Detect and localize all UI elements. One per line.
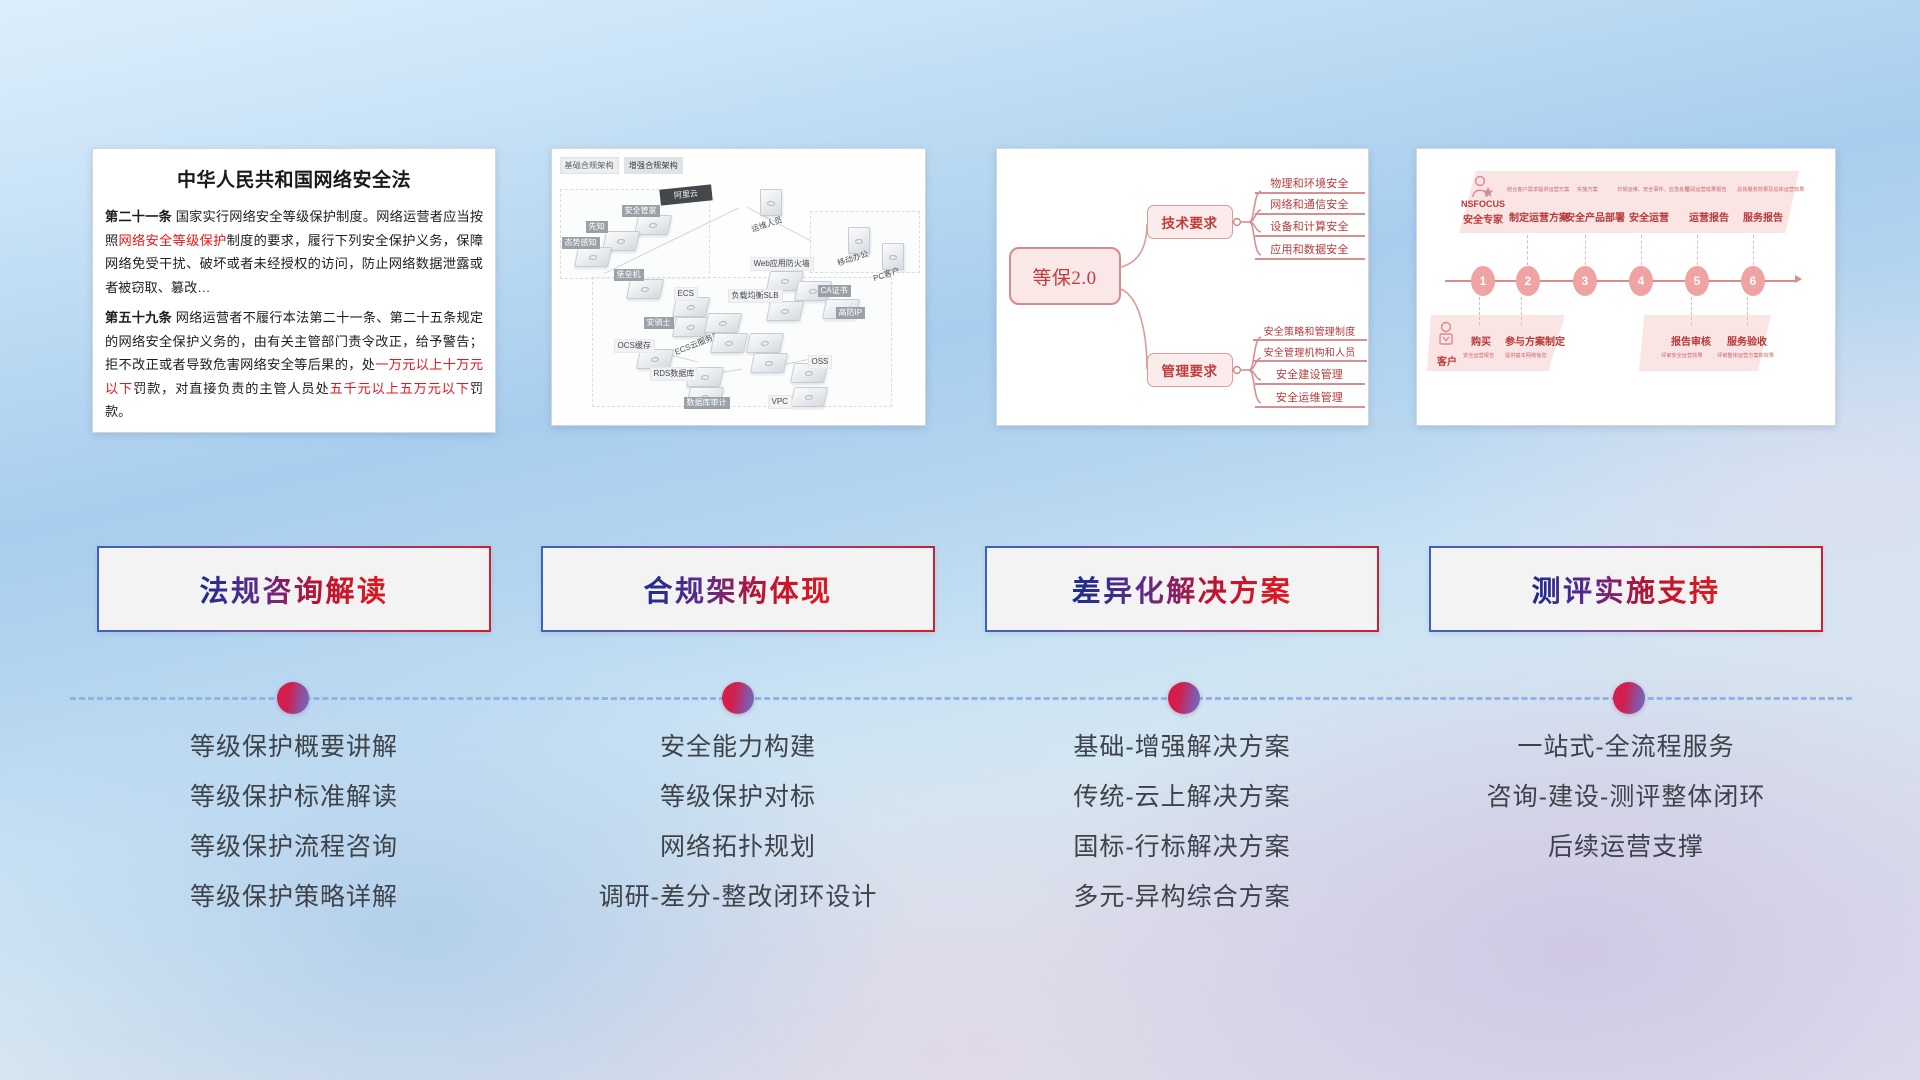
timeline-node-6[interactable]: 6	[1741, 266, 1765, 296]
mindmap-leaf-tech-4: 应用和数据安全	[1255, 241, 1365, 260]
arch-node-taishi: 态势感知	[562, 237, 600, 249]
arch-node-ocs: OCS缓存	[614, 339, 655, 353]
timeline-title-bottom-5: 报告审核	[1671, 333, 1711, 348]
timeline-actor-customer-role: 客户	[1437, 353, 1457, 368]
law-card-body: 第二十一条 国家实行网络安全等级保护制度。网络运营者应当按照网络安全等级保护制度…	[93, 205, 495, 424]
list-item: 调研-差分-整改闭环设计	[599, 885, 878, 910]
category-label-solution: 差异化解决方案	[1072, 568, 1293, 610]
timeline-node-4[interactable]: 4	[1629, 266, 1653, 296]
arch-node-anquanguanjia: 安全管家	[622, 205, 660, 217]
timeline-card[interactable]: NSFOCUS 安全专家 客户 结合客户需求提供运营方案 实施方案 日常运维、安…	[1416, 148, 1836, 426]
timeline-dash-4	[1641, 235, 1642, 265]
arch-box-ecs-c1	[703, 313, 741, 333]
list-item: 等级保护策略详解	[190, 885, 398, 910]
list-item: 等级保护流程咨询	[190, 835, 398, 860]
timeline-node-2[interactable]: 2	[1516, 266, 1540, 296]
slide-canvas: 中华人民共和国网络安全法 第二十一条 国家实行网络安全等级保护制度。网络运营者应…	[0, 0, 1920, 1080]
timeline-sub-bottom-2: 提供基本网络信息	[1505, 352, 1547, 359]
list-item: 传统-云上解决方案	[1073, 785, 1290, 810]
list-item: 后续运营支撑	[1548, 835, 1704, 860]
timeline-dot-3[interactable]	[1168, 682, 1200, 714]
timeline-title-top-5: 运营报告	[1689, 209, 1729, 224]
mindmap-root-node[interactable]: 等保2.0	[1009, 247, 1121, 305]
timeline-dot-1[interactable]	[277, 682, 309, 714]
arch-box-ops-user	[760, 189, 782, 216]
arch-node-oss: OSS	[808, 355, 833, 369]
architecture-card[interactable]: 基础合规架构 增强合规架构 阿里云 安全管家	[551, 148, 926, 426]
timeline-sub-top-4: 日常运维、安全事件、应急处理	[1617, 186, 1690, 193]
timeline-dot-2[interactable]	[722, 682, 754, 714]
category-card-architecture[interactable]: 合规架构体现	[541, 546, 935, 632]
timeline-dash-b2	[1521, 297, 1522, 325]
arch-node-vpc: VPC	[768, 395, 792, 409]
detail-list-regulation: 等级保护概要讲解 等级保护标准解读 等级保护流程咨询 等级保护策略详解	[72, 735, 516, 965]
arch-node-waf: Web应用防火墙	[750, 257, 814, 271]
arch-tab-enhanced[interactable]: 增强合规架构	[624, 157, 683, 174]
category-card-assessment[interactable]: 测评实施支持	[1429, 546, 1823, 632]
timeline-title-top-6: 服务报告	[1743, 209, 1783, 224]
law-article-label-2: 第五十九条	[105, 310, 172, 325]
category-card-regulation[interactable]: 法规咨询解读	[97, 546, 491, 632]
law-card-title: 中华人民共和国网络安全法	[93, 165, 495, 192]
mindmap-leaf-tech-3: 设备和计算安全	[1255, 218, 1365, 237]
detail-lists-row: 等级保护概要讲解 等级保护标准解读 等级保护流程咨询 等级保护策略详解 安全能力…	[72, 735, 1848, 965]
arch-node-baolei: 堡垒机	[614, 269, 644, 281]
timeline-dash-6	[1753, 235, 1754, 265]
list-item: 基础-增强解决方案	[1073, 735, 1290, 760]
mindmap-diagram: 等保2.0 技术要求 物理和环境安全 网络和通信安全 设备和计算安全 应用和数据…	[997, 149, 1368, 425]
detail-list-architecture: 安全能力构建 等级保护对标 网络拓扑规划 调研-差分-整改闭环设计	[516, 735, 960, 965]
architecture-diagram: 基础合规架构 增强合规架构 阿里云 安全管家	[552, 149, 925, 425]
category-labels-row: 法规咨询解读 合规架构体现 差异化解决方案 测评实施支持	[72, 546, 1848, 632]
timeline-sub-top-3: 实施方案	[1577, 186, 1598, 193]
timeline-dot-slot-1	[70, 678, 516, 718]
label-slot-2: 合规架构体现	[516, 546, 960, 632]
timeline-dash-b5	[1691, 297, 1692, 325]
arch-node-dbaudit: 数据库审计	[684, 397, 730, 409]
list-item: 一站式-全流程服务	[1517, 735, 1734, 760]
timeline-title-bottom-1: 购买	[1471, 333, 1491, 348]
timeline-sub-top-5: 阶段运营成果报告	[1685, 186, 1727, 193]
timeline-sub-bottom-6: 评审整体运营方案和效果	[1717, 352, 1774, 359]
timeline-title-bottom-2: 参与方案制定	[1505, 333, 1565, 348]
timeline-dot-4[interactable]	[1613, 682, 1645, 714]
timeline-title-top-4: 安全运营	[1629, 209, 1669, 224]
arch-node-rds: RDS数据库	[650, 367, 699, 381]
detail-list-solution: 基础-增强解决方案 传统-云上解决方案 国标-行标解决方案 多元-异构综合方案	[960, 735, 1404, 965]
progress-timeline	[70, 678, 1852, 718]
detail-list-assessment: 一站式-全流程服务 咨询-建设-测评整体闭环 后续运营支撑	[1404, 735, 1848, 965]
mindmap-branch-management[interactable]: 管理要求	[1147, 353, 1233, 387]
law-seg-2-3: 五千元以上五万元以下	[330, 381, 470, 396]
service-process-timeline: NSFOCUS 安全专家 客户 结合客户需求提供运营方案 实施方案 日常运维、安…	[1417, 149, 1835, 425]
timeline-sub-bottom-1: 安全运营报告	[1463, 352, 1494, 359]
arch-node-slb: 负载均衡SLB	[728, 289, 783, 303]
law-card[interactable]: 中华人民共和国网络安全法 第二十一条 国家实行网络安全等级保护制度。网络运营者应…	[92, 148, 496, 433]
timeline-title-bottom-6: 服务验收	[1727, 333, 1767, 348]
list-item: 国标-行标解决方案	[1073, 835, 1290, 860]
label-slot-4: 测评实施支持	[1404, 546, 1848, 632]
timeline-node-3[interactable]: 3	[1573, 266, 1597, 296]
arch-box-ecs-c2	[709, 333, 747, 353]
arch-node-ca: CA证书	[818, 285, 851, 297]
image-cards-row: 中华人民共和国网络安全法 第二十一条 国家实行网络安全等级保护制度。网络运营者应…	[72, 148, 1848, 438]
mindmap-branch-technical[interactable]: 技术要求	[1147, 205, 1233, 239]
arch-box-ecs-c3	[745, 333, 783, 353]
law-seg-1-1: 网络安全等级保护	[119, 233, 227, 248]
label-slot-3: 差异化解决方案	[960, 546, 1404, 632]
list-item: 等级保护标准解读	[190, 785, 398, 810]
arch-box-slb	[765, 301, 803, 321]
mindmap-leaf-mgmt-1: 安全策略和管理制度	[1253, 323, 1367, 341]
law-paragraph-2: 第五十九条 网络运营者不履行本法第二十一条、第二十五条规定的网络安全保护义务的，…	[105, 306, 483, 424]
timeline-sub-bottom-5: 评审安全运营效果	[1661, 352, 1703, 359]
timeline-dot-slot-3	[961, 678, 1407, 718]
list-item: 网络拓扑规划	[660, 835, 816, 860]
mindmap-leaf-mgmt-3: 安全建设管理	[1255, 366, 1365, 385]
arch-box-taishi	[573, 247, 611, 267]
timeline-arrow-icon	[1795, 275, 1802, 283]
arch-node-xianzhi: 先知	[586, 221, 608, 233]
list-item: 等级保护概要讲解	[190, 735, 398, 760]
mindmap-leaf-tech-2: 网络和通信安全	[1255, 196, 1365, 215]
timeline-actor-expert-role: 安全专家	[1463, 211, 1503, 226]
arch-box-vpc	[789, 387, 827, 407]
timeline-dash-3	[1585, 235, 1586, 265]
timeline-dash-2	[1527, 235, 1528, 265]
timeline-node-5[interactable]: 5	[1685, 266, 1709, 296]
arch-box-ecs-c4	[749, 353, 787, 373]
timeline-sub-top-2: 结合客户需求提供运营方案	[1507, 186, 1569, 193]
arch-node-antiddos: 高防IP	[836, 307, 866, 319]
card-slot-4: NSFOCUS 安全专家 客户 结合客户需求提供运营方案 实施方案 日常运维、安…	[1404, 148, 1848, 438]
timeline-title-top-2: 制定运营方案	[1509, 209, 1569, 224]
card-slot-3: 等保2.0 技术要求 物理和环境安全 网络和通信安全 设备和计算安全 应用和数据…	[960, 148, 1404, 438]
arch-tab-basic[interactable]: 基础合规架构	[560, 157, 619, 174]
card-slot-1: 中华人民共和国网络安全法 第二十一条 国家实行网络安全等级保护制度。网络运营者应…	[72, 148, 516, 438]
timeline-dash-b1	[1479, 297, 1480, 325]
card-slot-2: 基础合规架构 增强合规架构 阿里云 安全管家	[516, 148, 960, 438]
timeline-node-1[interactable]: 1	[1471, 266, 1495, 296]
mindmap-leaf-mgmt-4: 安全运维管理	[1255, 389, 1365, 408]
arch-node-agent: 安骑士	[644, 317, 674, 329]
timeline-sub-top-6: 总体服务效果及总体运营效果	[1737, 186, 1804, 193]
list-item: 安全能力构建	[660, 735, 816, 760]
mindmap-leaf-mgmt-2: 安全管理机构和人员	[1253, 344, 1367, 362]
arch-node-ecs: ECS	[674, 287, 698, 301]
category-label-regulation: 法规咨询解读	[199, 568, 388, 610]
timeline-dash-5	[1697, 235, 1698, 265]
category-label-assessment: 测评实施支持	[1531, 568, 1720, 610]
timeline-dot-slot-4	[1407, 678, 1853, 718]
architecture-tabs: 基础合规架构 增强合规架构	[560, 157, 683, 174]
timeline-title-top-3: 安全产品部署	[1565, 209, 1625, 224]
law-seg-2-2: 罚款，对直接负责的主管人员处	[133, 381, 329, 396]
label-slot-1: 法规咨询解读	[72, 546, 516, 632]
timeline-dot-row	[70, 678, 1852, 718]
timeline-actor-expert-name: NSFOCUS	[1461, 199, 1505, 209]
arch-box-baolei	[625, 279, 663, 299]
mindmap-leaf-tech-1: 物理和环境安全	[1255, 175, 1365, 194]
list-item: 咨询-建设-测评整体闭环	[1487, 785, 1766, 810]
category-label-architecture: 合规架构体现	[643, 568, 832, 610]
category-card-solution[interactable]: 差异化解决方案	[985, 546, 1379, 632]
mindmap-card[interactable]: 等保2.0 技术要求 物理和环境安全 网络和通信安全 设备和计算安全 应用和数据…	[996, 148, 1369, 426]
law-paragraph-1: 第二十一条 国家实行网络安全等级保护制度。网络运营者应当按照网络安全等级保护制度…	[105, 205, 483, 299]
list-item: 多元-异构综合方案	[1073, 885, 1290, 910]
customer-person-icon	[1435, 321, 1459, 351]
law-article-label-1: 第二十一条	[105, 209, 172, 224]
timeline-dot-slot-2	[516, 678, 962, 718]
timeline-dash-b6	[1747, 297, 1748, 325]
list-item: 等级保护对标	[660, 785, 816, 810]
